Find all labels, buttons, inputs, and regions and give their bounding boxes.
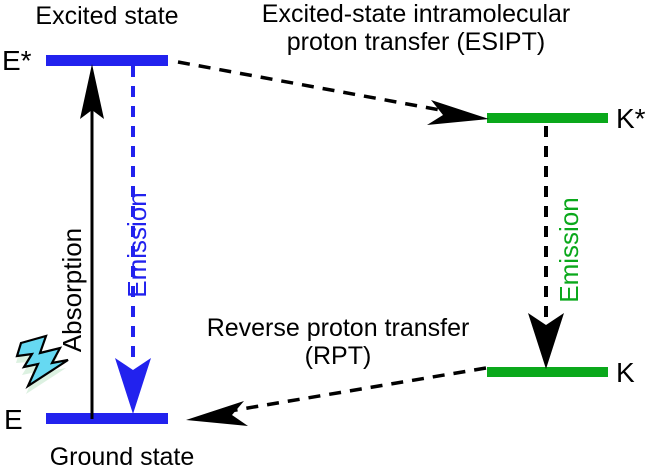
keto-excited-level <box>487 113 608 123</box>
enol-excited-state-label: E* <box>2 45 32 76</box>
enol-excited-level <box>46 55 168 66</box>
excited-state-heading: Excited state <box>35 2 178 30</box>
esipt-arrow <box>178 62 489 125</box>
esipt-energy-level-diagram: Excited state Ground state Excited-state… <box>0 0 651 472</box>
enol-ground-level <box>46 413 168 424</box>
rpt-caption-line1: Reverse proton transfer <box>207 314 470 342</box>
diagram-canvas: Excited state Ground state Excited-state… <box>0 0 651 472</box>
keto-ground-level <box>487 367 608 377</box>
keto-ground-state-label: K <box>616 357 635 388</box>
rpt-caption-line2: (RPT) <box>305 342 372 370</box>
keto-emission-label: Emission <box>554 197 584 302</box>
ground-state-heading: Ground state <box>50 443 195 471</box>
absorption-label: Absorption <box>57 228 87 352</box>
esipt-caption-line1: Excited-state intramolecular <box>262 0 570 28</box>
keto-excited-state-label: K* <box>616 103 646 134</box>
enol-ground-state-label: E <box>4 404 23 435</box>
rpt-arrow <box>186 368 486 426</box>
esipt-caption-line2: proton transfer (ESIPT) <box>287 28 545 56</box>
enol-emission-label: Emission <box>122 192 152 297</box>
